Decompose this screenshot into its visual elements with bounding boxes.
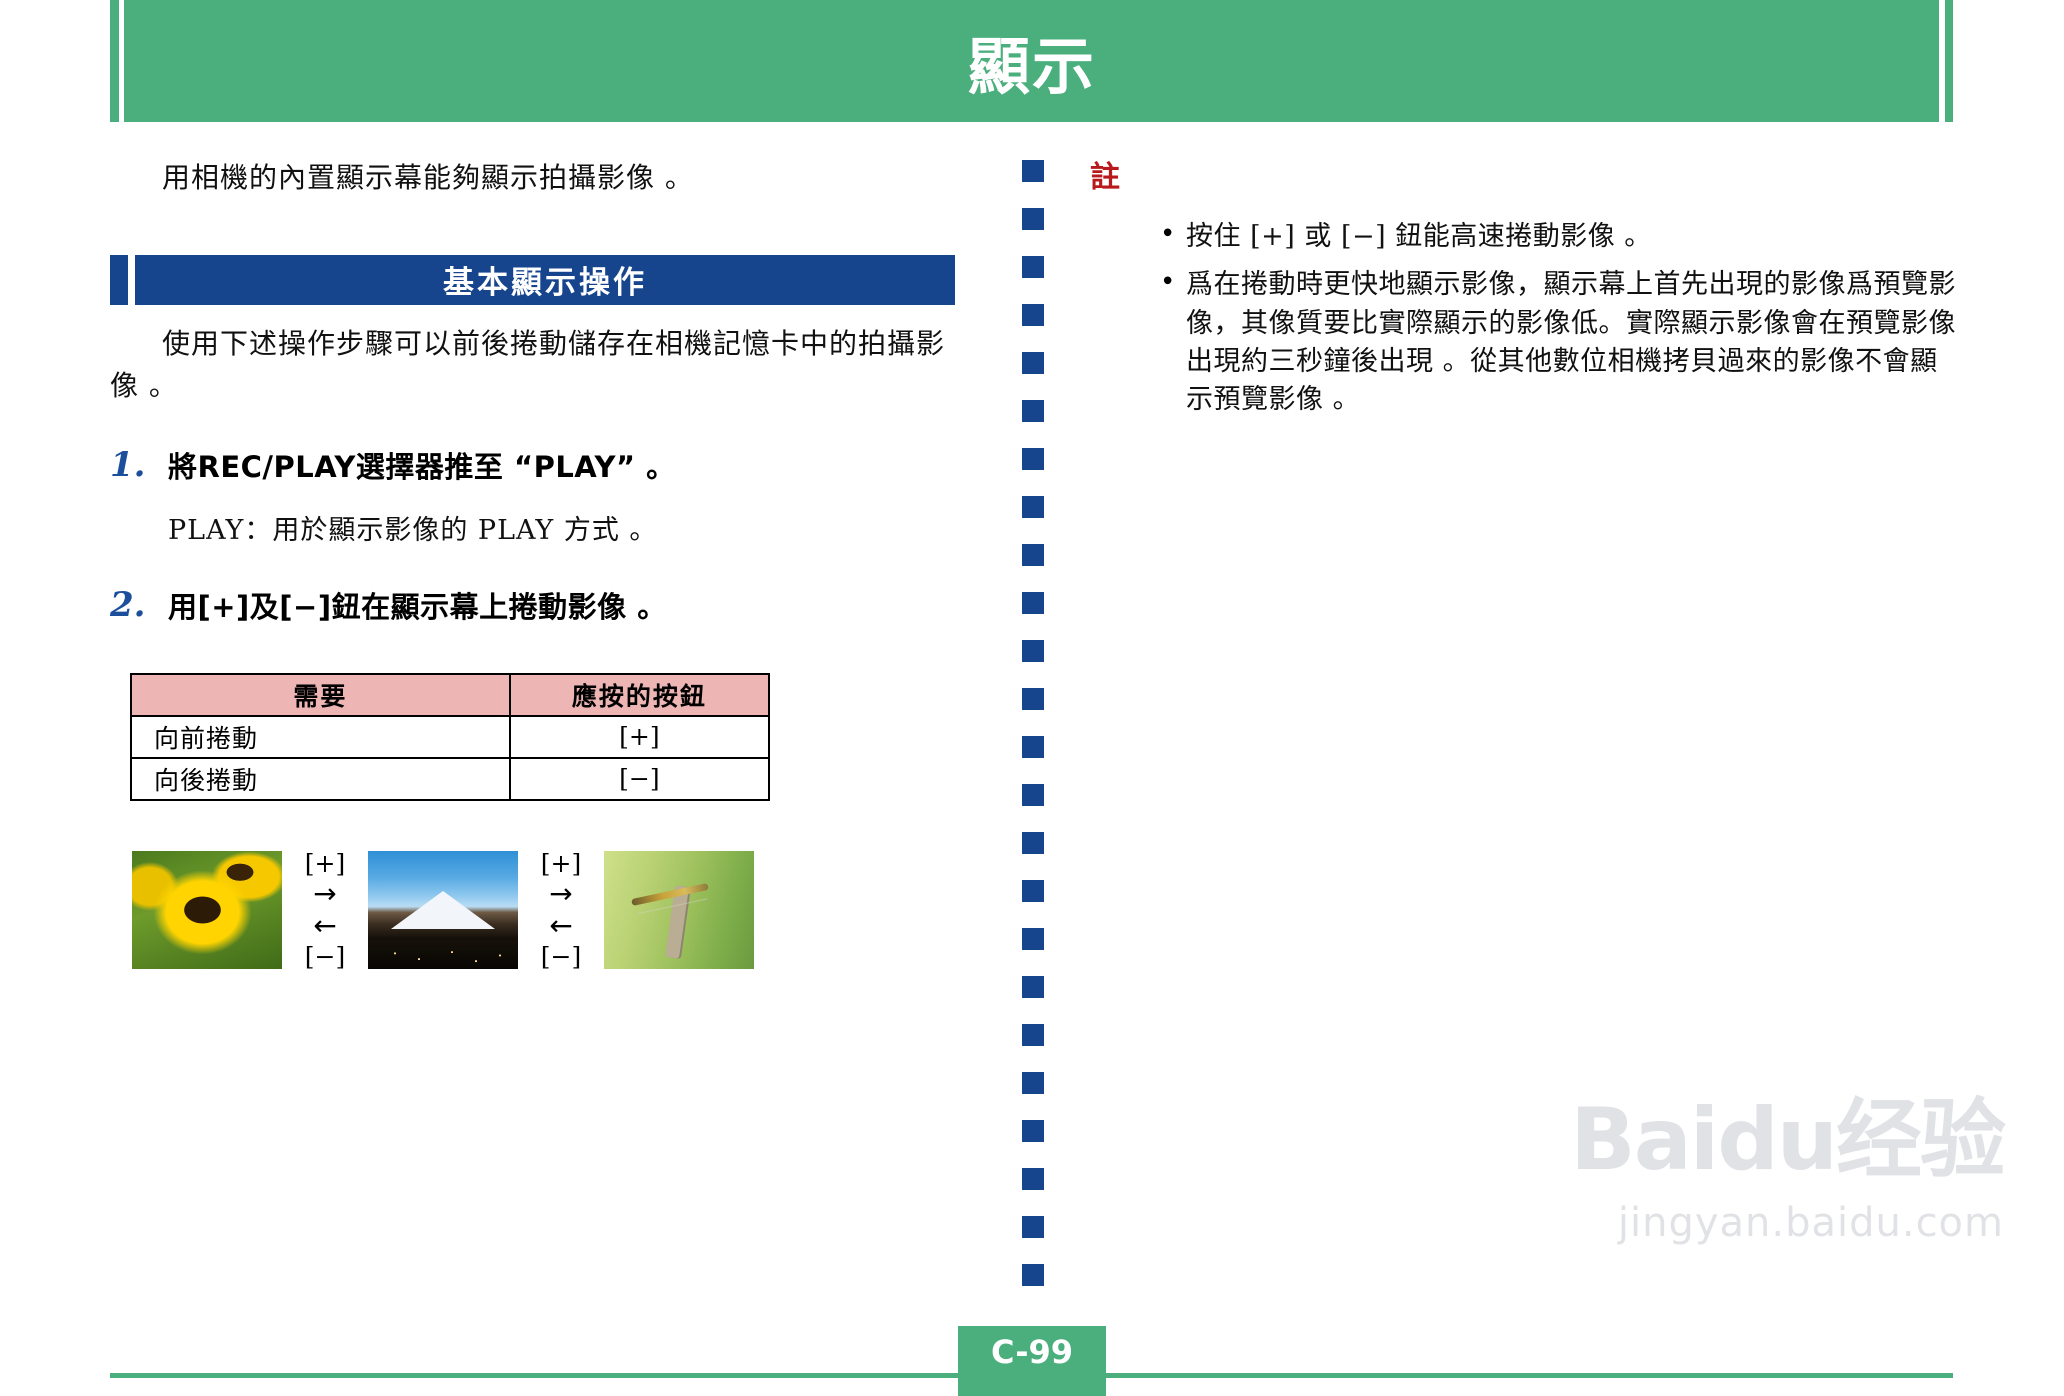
divider-dot	[1022, 592, 1044, 614]
section-bar-gap	[128, 255, 135, 305]
divider-dot	[1022, 688, 1044, 710]
column-divider	[1022, 160, 1044, 1300]
table-header-row: 需要 應按的按鈕	[131, 674, 769, 716]
list-item: 按住 [+] 或 [−] 鈕能高速捲動影像 。	[1158, 218, 1960, 256]
divider-dot	[1022, 1216, 1044, 1238]
backward-arrow-icon: ←	[313, 912, 336, 940]
arrow-group-1: [+] → ← [−]	[282, 851, 368, 969]
left-column: 用相機的內置顯示幕能夠顯示拍攝影像 。 基本顯示操作 使用下述操作步驟可以前後捲…	[110, 140, 970, 969]
step-1-title: 將REC/PLAY選擇器推至 “PLAY” 。	[168, 449, 970, 487]
divider-dot	[1022, 352, 1044, 374]
minus-label: [−]	[305, 944, 345, 969]
divider-dot	[1022, 448, 1044, 470]
divider-dot	[1022, 400, 1044, 422]
page-header: 顯示	[0, 0, 2064, 128]
divider-dot	[1022, 736, 1044, 758]
step-1: 1. 將REC/PLAY選擇器推至 “PLAY” 。 PLAY：用於顯示影像的 …	[110, 449, 970, 548]
list-item: 爲在捲動時更快地顯示影像，顯示幕上首先出現的影像爲預覽影像，其像質要比實際顯示的…	[1158, 266, 1960, 419]
divider-dot	[1022, 832, 1044, 854]
table-cell-button: [+]	[510, 716, 769, 758]
table-header-need: 需要	[131, 674, 510, 716]
forward-arrow-icon: →	[549, 880, 572, 908]
divider-dot	[1022, 160, 1044, 182]
table-cell-button: [−]	[510, 758, 769, 800]
flower-photo	[132, 851, 282, 969]
table-header-button: 應按的按鈕	[510, 674, 769, 716]
dragonfly-photo	[604, 851, 754, 969]
table-row: 向前捲動 [+]	[131, 716, 769, 758]
divider-dot	[1022, 1264, 1044, 1286]
baidu-watermark: Baidu经验 jingyan.baidu.com	[1570, 1069, 2004, 1246]
page-number-badge: C-99	[958, 1326, 1106, 1378]
section-title: 基本顯示操作	[443, 257, 647, 302]
table-cell-need: 向前捲動	[131, 716, 510, 758]
plus-label: [+]	[305, 851, 345, 876]
forward-arrow-icon: →	[313, 880, 336, 908]
divider-dot	[1022, 640, 1044, 662]
section-header-bar: 基本顯示操作	[110, 255, 955, 305]
right-column: 註 按住 [+] 或 [−] 鈕能高速捲動影像 。 爲在捲動時更快地顯示影像，顯…	[1090, 152, 1960, 430]
step-2-number: 2.	[110, 585, 146, 625]
divider-dot	[1022, 976, 1044, 998]
divider-dot	[1022, 496, 1044, 518]
manual-page: 顯示 用相機的內置顯示幕能夠顯示拍攝影像 。 基本顯示操作 使用下述操作步驟可以…	[0, 0, 2064, 1396]
watermark-sub-text: jingyan.baidu.com	[1570, 1200, 2004, 1246]
body-paragraph: 使用下述操作步驟可以前後捲動儲存在相機記憶卡中的拍攝影像 。	[110, 323, 955, 407]
divider-dot	[1022, 304, 1044, 326]
plus-label: [+]	[541, 851, 581, 876]
watermark-main-text: Baidu经验	[1570, 1069, 2004, 1194]
step-2-title: 用[+]及[−]鈕在顯示幕上捲動影像 。	[168, 589, 970, 627]
step-1-number: 1.	[110, 445, 146, 485]
minus-label: [−]	[541, 944, 581, 969]
page-title: 顯示	[0, 0, 2064, 122]
divider-dot	[1022, 208, 1044, 230]
note-heading: 註	[1090, 152, 1960, 196]
divider-dot	[1022, 1072, 1044, 1094]
intro-paragraph: 用相機的內置顯示幕能夠顯示拍攝影像 。	[110, 158, 970, 199]
section-bar-main: 基本顯示操作	[135, 255, 955, 305]
button-reference-table: 需要 應按的按鈕 向前捲動 [+] 向後捲動 [−]	[130, 673, 770, 801]
divider-dot	[1022, 1168, 1044, 1190]
mount-fuji-photo	[368, 851, 518, 969]
divider-dot	[1022, 1024, 1044, 1046]
divider-dot	[1022, 1120, 1044, 1142]
backward-arrow-icon: ←	[549, 912, 572, 940]
section-bar-tab	[110, 255, 128, 305]
divider-dot	[1022, 544, 1044, 566]
note-list: 按住 [+] 或 [−] 鈕能高速捲動影像 。 爲在捲動時更快地顯示影像，顯示幕…	[1158, 218, 1960, 420]
divider-dot	[1022, 928, 1044, 950]
divider-dot	[1022, 256, 1044, 278]
table-row: 向後捲動 [−]	[131, 758, 769, 800]
step-2: 2. 用[+]及[−]鈕在顯示幕上捲動影像 。	[110, 589, 970, 627]
arrow-group-2: [+] → ← [−]	[518, 851, 604, 969]
table-cell-need: 向後捲動	[131, 758, 510, 800]
divider-dot	[1022, 784, 1044, 806]
page-badge-stem	[958, 1376, 1106, 1396]
divider-dot	[1022, 880, 1044, 902]
photo-navigation-diagram: [+] → ← [−] [+] → ← [−]	[132, 851, 970, 969]
step-1-subtext: PLAY：用於顯示影像的 PLAY 方式 。	[168, 508, 970, 547]
page-footer: C-99	[0, 1306, 2064, 1396]
